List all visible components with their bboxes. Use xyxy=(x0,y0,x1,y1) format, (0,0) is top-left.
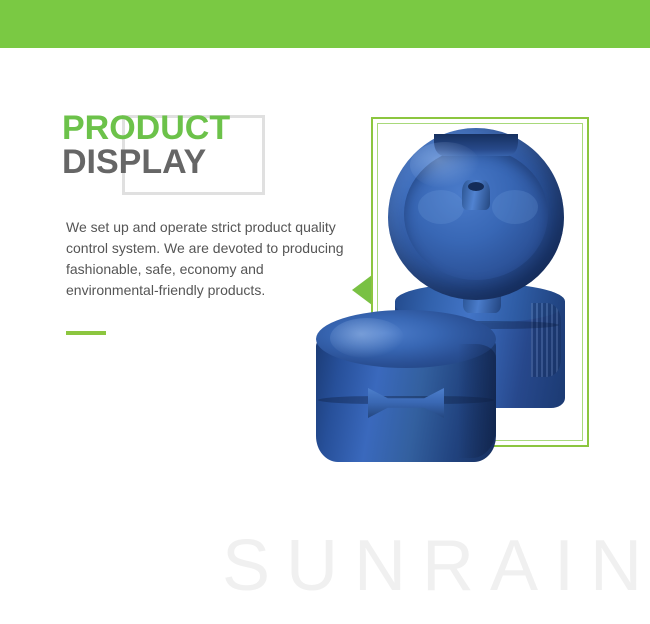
flip-top-cap-lid xyxy=(388,128,564,300)
page-title: PRODUCT DISPLAY xyxy=(62,112,230,179)
cap-lid-highlight xyxy=(410,142,480,188)
cap-open-ridges xyxy=(531,303,561,377)
cap-lid-dimple-left xyxy=(418,190,464,224)
cap-closed-highlight xyxy=(330,318,404,358)
cap-lid-plug-hole xyxy=(468,182,484,191)
top-green-bar xyxy=(0,0,650,48)
accent-rule xyxy=(66,331,106,335)
cap-lid-dimple-right xyxy=(492,190,538,224)
product-photo xyxy=(300,120,590,480)
brand-watermark: SUNRAIN xyxy=(222,528,642,604)
product-display-page: PRODUCT DISPLAY We set up and operate st… xyxy=(0,0,650,624)
page-title-line-1: PRODUCT xyxy=(62,112,230,144)
page-title-line-2: DISPLAY xyxy=(62,146,230,178)
flip-top-cap-closed xyxy=(316,310,496,470)
